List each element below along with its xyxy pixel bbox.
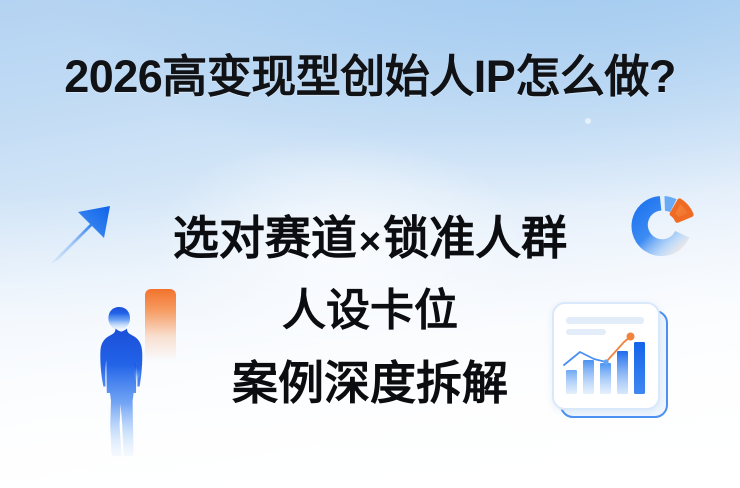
card-face (552, 302, 660, 410)
headline-line1-part2: 锁准人群 (383, 212, 567, 264)
headline-line1-part1: 选对赛道 (173, 212, 357, 264)
bar-chart-card-icon (552, 302, 668, 418)
donut-chart-icon (627, 190, 699, 262)
card-bars (566, 342, 645, 394)
trend-node (603, 359, 608, 364)
poster-canvas: 2026高变现型创始人IP怎么做? (0, 0, 740, 488)
trend-end-marker (627, 333, 635, 341)
background-speck (585, 118, 591, 124)
headline-line1-separator: × (357, 221, 383, 263)
page-title: 2026高变现型创始人IP怎么做? (0, 52, 740, 102)
